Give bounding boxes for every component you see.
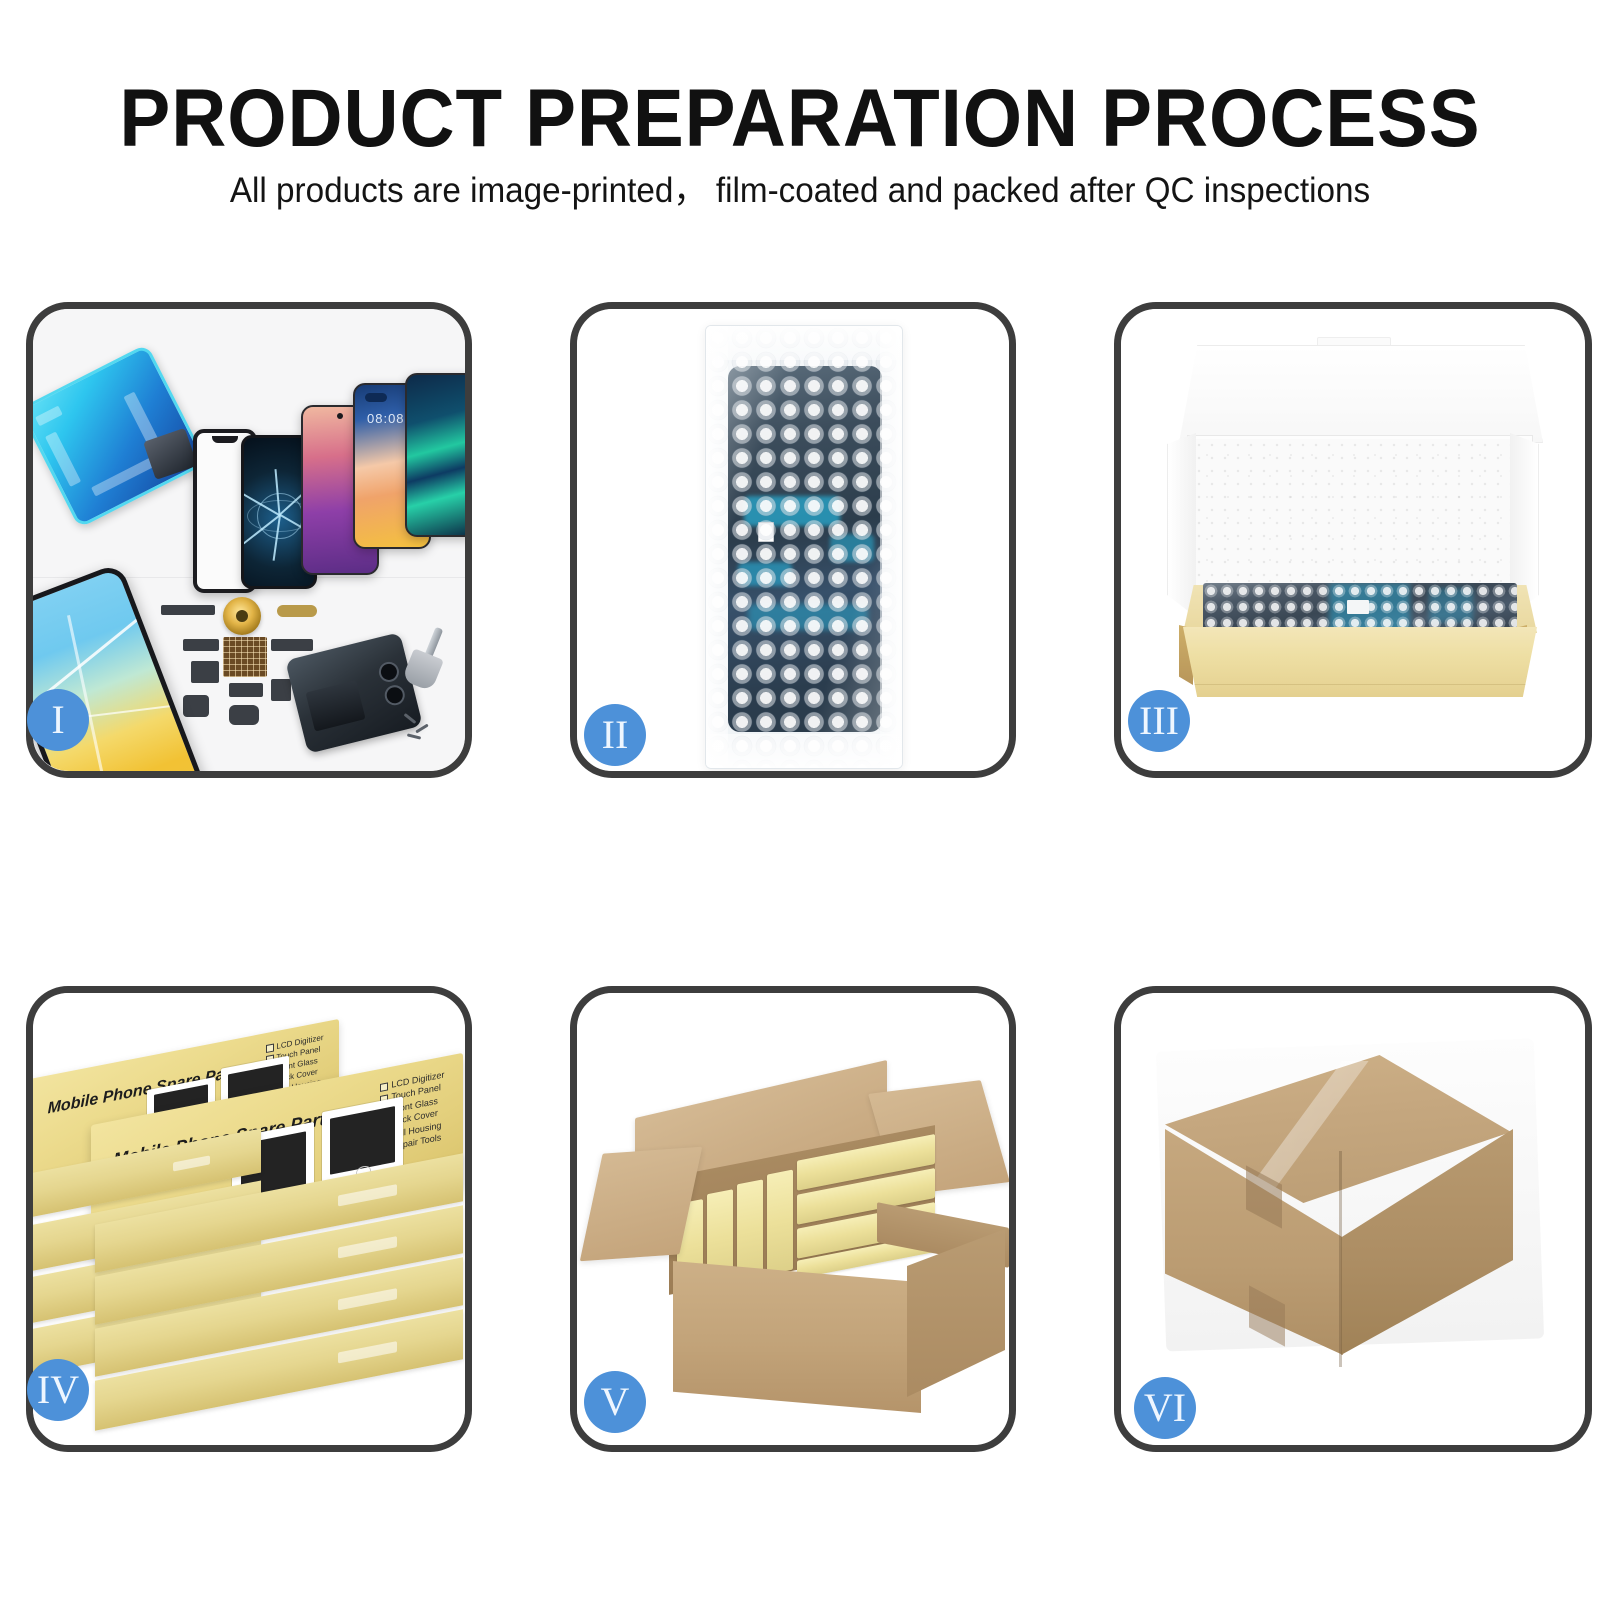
screen-notch: [212, 436, 238, 443]
box-lid-back: [1179, 345, 1543, 443]
box-front-panel: [1183, 627, 1537, 697]
box-left-wall: [1167, 433, 1196, 617]
step-4-image: Mobile Phone Spare Parts LCD Digitizer T…: [33, 993, 465, 1445]
screw: [407, 733, 421, 739]
step-6-image: [1121, 993, 1585, 1445]
step-2-image: [577, 309, 1009, 771]
packed-screens-row: [1203, 583, 1517, 633]
volume-flex-part: [271, 639, 313, 651]
screwdriver-screws: [403, 717, 443, 743]
step-3-image: [1121, 309, 1585, 771]
battery-part: [305, 680, 365, 731]
phone-clock-label: 08:08: [367, 411, 405, 426]
vibration-motor-part: [191, 661, 219, 683]
small-flex-part: [183, 639, 219, 651]
step-badge-3: III: [1128, 690, 1190, 752]
step-badge-4: IV: [27, 1359, 89, 1421]
step-panel-2[interactable]: [570, 302, 1016, 778]
process-step-grid: 08:08: [0, 0, 1600, 1600]
photo-screen: [330, 1106, 395, 1174]
sheet-strip: [35, 406, 63, 427]
step-badge-5: V: [584, 1371, 646, 1433]
flex-cable-part: [277, 605, 317, 617]
gold-box: [767, 1170, 793, 1275]
carton-corner-edge: [1339, 1151, 1342, 1367]
step-1-image: 08:08: [33, 309, 465, 771]
foam-insert: [1193, 439, 1525, 585]
bag-seal-edge: [880, 326, 902, 768]
bag-seal-edge: [706, 326, 728, 768]
bag-seal-edge: [706, 326, 902, 360]
screw: [415, 724, 428, 734]
carton-front-face: [673, 1261, 921, 1413]
punch-hole-camera: [365, 393, 387, 402]
earpiece-speaker-part: [161, 605, 215, 615]
step-panel-6[interactable]: [1114, 986, 1592, 1452]
step-5-image: [577, 993, 1009, 1445]
step-badge-1: I: [27, 689, 89, 751]
brush-bristles: [402, 648, 444, 692]
connector-part: [229, 683, 263, 697]
box-fold-line: [1183, 684, 1537, 685]
camera-lens: [383, 683, 407, 707]
speaker-part: [229, 705, 259, 725]
product-sticker: [1347, 600, 1369, 614]
bag-seal-edge: [706, 734, 902, 768]
sheet-strip: [91, 458, 154, 497]
bubble-wrap-bag: [705, 325, 903, 769]
teal-display-assembly: [405, 373, 465, 537]
sim-tray-part: [183, 695, 209, 717]
camera-module-part: [271, 679, 291, 701]
front-camera-dot: [337, 413, 343, 419]
ic-chip-grid: [223, 637, 267, 677]
step-panel-4[interactable]: Mobile Phone Spare Parts LCD Digitizer T…: [26, 986, 472, 1452]
step-badge-6: VI: [1134, 1377, 1196, 1439]
step-panel-1[interactable]: 08:08: [26, 302, 472, 778]
step-badge-2: II: [584, 704, 646, 766]
wireless-charging-coil: [223, 597, 261, 635]
plastic-sheen: [706, 326, 902, 768]
